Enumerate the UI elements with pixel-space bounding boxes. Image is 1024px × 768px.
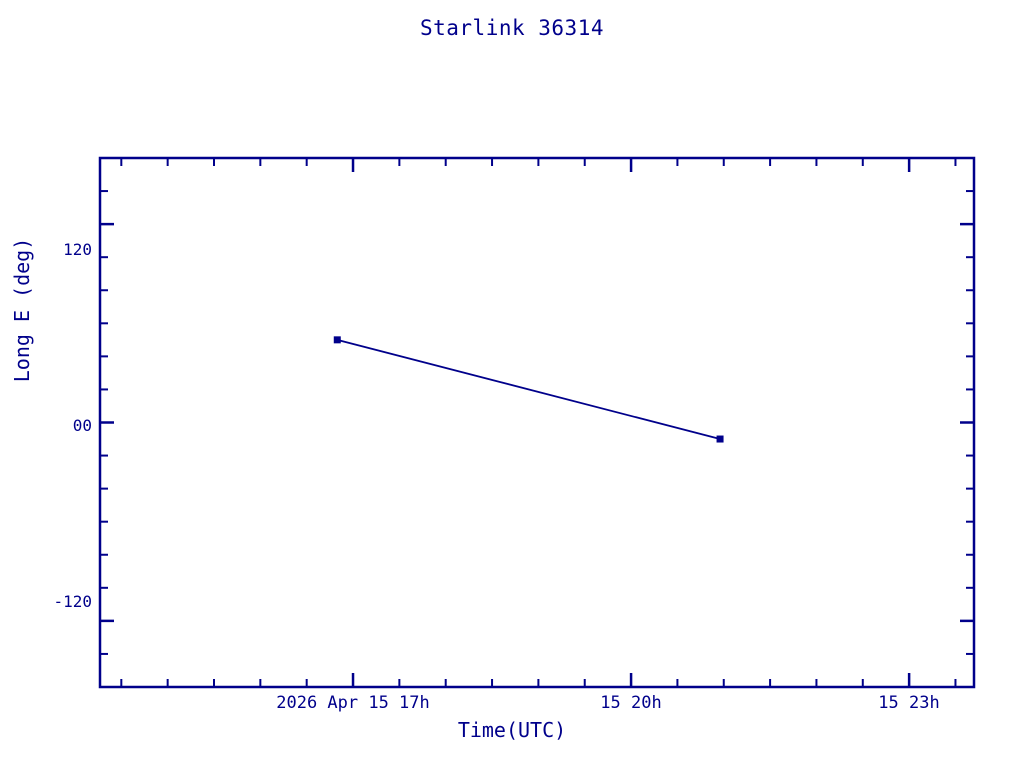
axes-frame xyxy=(100,158,974,687)
axis-ticks xyxy=(100,158,974,687)
data-point-marker xyxy=(334,336,341,343)
data-line xyxy=(337,340,720,439)
data-series xyxy=(334,336,724,442)
plot-frame xyxy=(100,158,974,687)
plot-area xyxy=(0,0,1024,768)
data-point-marker xyxy=(717,436,724,443)
chart-figure: Starlink 36314 Long E (deg) Time(UTC) 12… xyxy=(0,0,1024,768)
